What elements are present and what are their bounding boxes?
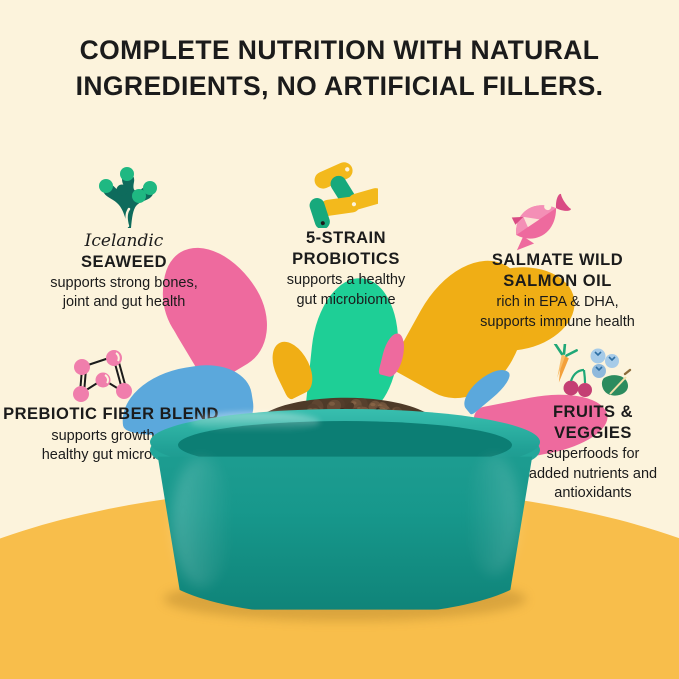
bowl-rim-highlight <box>190 412 320 432</box>
salmon-title-line-2: SALMON OIL <box>455 271 660 292</box>
seaweed-desc-line-2: joint and gut health <box>18 293 230 312</box>
product-description: kibble and raw meat pieces <box>0 0 1 1</box>
bowl-highlight-left <box>172 457 232 587</box>
headline-line-1: COMPLETE NUTRITION WITH NATURAL <box>0 33 679 69</box>
label-seaweed: Icelandic SEAWEED supports strong bones,… <box>18 232 230 313</box>
salmon-desc-line-2: supports immune health <box>455 313 660 332</box>
salmon-title-line-1: SALMATE WILD <box>455 250 660 271</box>
produce-icon <box>540 344 632 405</box>
label-salmon-oil: SALMATE WILD SALMON OIL rich in EPA & DH… <box>455 250 660 332</box>
probiotics-title: 5-STRAIN PROBIOTICS <box>252 228 440 269</box>
infographic-canvas: COMPLETE NUTRITION WITH NATURAL INGREDIE… <box>0 0 679 679</box>
headline-line-2: INGREDIENTS, NO ARTIFICIAL FILLERS. <box>0 69 679 105</box>
seaweed-desc-line-1: supports strong bones, <box>18 274 230 293</box>
fish-icon <box>500 190 574 257</box>
seaweed-icon <box>92 166 166 237</box>
capsules-icon <box>300 160 378 233</box>
bowl-highlight-right <box>466 455 520 575</box>
probiotics-desc-line-2: gut microbiome <box>252 291 440 310</box>
label-probiotics: 5-STRAIN PROBIOTICS supports a healthy g… <box>252 228 440 310</box>
salmon-desc-line-1: rich in EPA & DHA, <box>455 293 660 312</box>
seaweed-title: SEAWEED <box>18 252 230 273</box>
molecule-icon <box>60 347 142 410</box>
page-headline: COMPLETE NUTRITION WITH NATURAL INGREDIE… <box>0 33 679 104</box>
probiotics-desc-line-1: supports a healthy <box>252 271 440 290</box>
dog-food-bowl <box>150 405 540 635</box>
seaweed-script-text: Icelandic <box>18 232 230 252</box>
